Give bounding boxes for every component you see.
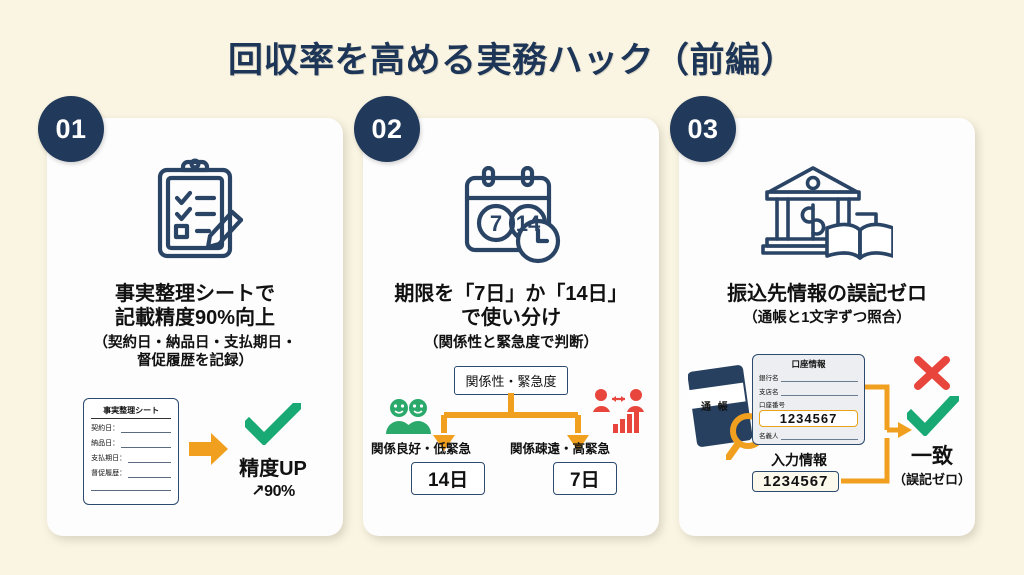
match-result-sub: （誤記ゼロ） <box>889 469 975 488</box>
card-02-number-badge: 02 <box>354 96 420 162</box>
card-01-figure: 事実整理シート 契約日： 納品日： 支払期日： 督促履歴： <box>47 398 343 505</box>
card-03-heading: 振込先情報の誤記ゼロ （通帳と1文字ずつ照合） <box>679 282 975 328</box>
check-mark-icon <box>245 403 301 450</box>
fact-sheet-field-row: 督促履歴： <box>91 468 171 478</box>
fact-sheet-form: 事実整理シート 契約日： 納品日： 支払期日： 督促履歴： <box>83 398 179 505</box>
svg-text:14: 14 <box>516 211 541 236</box>
fact-sheet-blank-line <box>91 483 171 491</box>
card-03-sub-line1: （通帳と1文字ずつ照合） <box>743 310 911 326</box>
card-01-heading-line2: 記載精度90%向上 <box>115 307 275 329</box>
clipboard-checklist-pencil-icon <box>47 152 343 264</box>
cards-row: 01 事実整理シートで <box>47 118 977 536</box>
branch-label-right: 関係疎遠・高緊急 <box>510 438 610 457</box>
fact-sheet-field-label: 支払期日： <box>91 453 126 463</box>
check-mark-icon <box>907 396 959 441</box>
card-02[interactable]: 02 7 14 期限を「7日」か「14日」 で使い分け <box>363 118 659 536</box>
card-03-heading-line1: 振込先情報の誤記ゼロ <box>727 283 927 305</box>
card-01-heading: 事実整理シートで 記載精度90%向上 （契約日・納品日・支払期日・ 督促履歴を記… <box>47 282 343 370</box>
match-result: 一致 （誤記ゼロ） <box>889 440 975 488</box>
branch-result-right: 7日 <box>553 462 617 495</box>
fact-sheet-field-row: 納品日： <box>91 438 171 448</box>
bank-book-icon <box>679 162 975 266</box>
card-02-heading: 期限を「7日」か「14日」 で使い分け （関係性と緊急度で判断） <box>363 282 659 352</box>
fact-sheet-field-row: 支払期日： <box>91 453 171 463</box>
card-01-result: 精度UP ↗90% <box>239 403 307 501</box>
branch-label-left: 関係良好・低緊急 <box>371 438 471 457</box>
svg-text:7: 7 <box>490 211 502 236</box>
two-people-green-icon <box>385 398 433 439</box>
card-01[interactable]: 01 事実整理シートで <box>47 118 343 536</box>
branch-result-left: 14日 <box>411 462 485 495</box>
card-02-heading-line2: で使い分け <box>461 307 561 329</box>
card-02-figure: 関係性・緊急度 <box>363 366 659 526</box>
fact-sheet-field-row: 契約日： <box>91 423 171 433</box>
fact-sheet-field-line <box>121 426 171 433</box>
arrow-right-icon <box>189 432 229 471</box>
people-distance-bars-red-icon <box>593 388 645 439</box>
card-01-number-badge: 01 <box>38 96 104 162</box>
fact-sheet-field-label: 契約日： <box>91 423 119 433</box>
accuracy-up-label: 精度UP <box>239 452 307 481</box>
match-result-label: 一致 <box>911 445 953 468</box>
card-02-heading-line1: 期限を「7日」か「14日」 <box>394 283 627 305</box>
card-03-number-badge: 03 <box>670 96 736 162</box>
fact-sheet-field-line <box>121 441 171 448</box>
fact-sheet-title: 事実整理シート <box>91 405 171 419</box>
fact-sheet-field-label: 督促履歴： <box>91 468 126 478</box>
card-02-sub-line1: （関係性と緊急度で判断） <box>424 335 598 351</box>
card-03[interactable]: 03 <box>679 118 975 536</box>
card-03-figure: 通 帳 口座情報 銀行名 支店名 口座番号 1234567 <box>679 354 975 534</box>
fact-sheet-field-label: 納品日： <box>91 438 119 448</box>
fact-sheet-field-line <box>128 471 171 478</box>
card-01-sub-line1: （契約日・納品日・支払期日・ <box>94 335 297 351</box>
fact-sheet-field-line <box>128 456 171 463</box>
calendar-clock-icon: 7 14 <box>363 166 659 266</box>
page-title: 回収率を高める実務ハック（前編） <box>0 32 1024 83</box>
decision-box: 関係性・緊急度 <box>454 366 567 395</box>
cross-mark-icon <box>912 356 952 395</box>
card-01-sub-line2: 督促履歴を記録） <box>137 353 253 369</box>
card-01-heading-line1: 事実整理シートで <box>115 283 275 305</box>
accuracy-up-value: ↗90% <box>251 481 294 501</box>
